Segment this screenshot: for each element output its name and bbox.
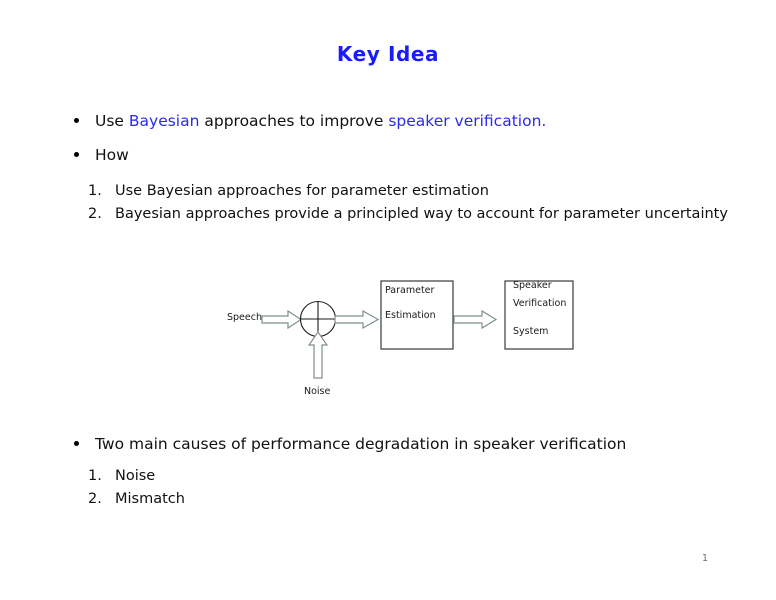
text-use-middle: approaches to improve <box>199 112 388 130</box>
causes-numbered-list: 1. Noise 2. Mismatch <box>88 465 488 511</box>
list-item: 1. Use Bayesian approaches for parameter… <box>88 180 728 203</box>
speaker-verification-box <box>505 281 573 349</box>
text-bayesian: Bayesian <box>129 112 200 130</box>
list-item-label: Use Bayesian approaches for parameter es… <box>115 180 728 203</box>
bullet-dot-icon <box>74 441 79 446</box>
list-item-label: Noise <box>115 465 488 488</box>
list-item: 2. Bayesian approaches provide a princip… <box>88 203 728 226</box>
text-speaker-verification: speaker verification. <box>388 112 546 130</box>
junction-to-estimation-arrow-icon <box>335 311 378 328</box>
list-item-number: 1. <box>88 465 110 488</box>
diagram-label-speech: Speech <box>227 312 262 323</box>
diagram-box-verification-line3: System <box>513 326 548 337</box>
list-item: 2. Mismatch <box>88 488 488 511</box>
text-use-prefix: Use <box>95 112 129 130</box>
block-diagram: Speech Noise Parameter Estimation Speake… <box>215 268 615 413</box>
how-numbered-list: 1. Use Bayesian approaches for parameter… <box>88 180 728 225</box>
noise-arrow-icon <box>309 332 327 378</box>
diagram-box-verification-line1: Speaker <box>513 280 552 291</box>
page-number: 1 <box>702 553 708 564</box>
diagram-box-parameter-line2: Estimation <box>385 310 436 321</box>
speech-arrow-icon <box>262 311 301 328</box>
list-item-number: 2. <box>88 203 110 226</box>
list-item-label: Mismatch <box>115 488 488 511</box>
diagram-box-verification-line2: Verification <box>513 298 566 309</box>
bullet-dot-icon <box>74 118 79 123</box>
page-title: Key Idea <box>0 42 776 66</box>
bullet-how-text: How <box>95 145 129 165</box>
slide-canvas: Key Idea Use Bayesian approaches to impr… <box>0 0 776 600</box>
estimation-to-verification-arrow-icon <box>454 311 496 328</box>
diagram-label-noise: Noise <box>304 386 330 397</box>
list-item-label: Bayesian approaches provide a principled… <box>115 203 728 226</box>
bullet-dot-icon <box>74 152 79 157</box>
list-item-number: 2. <box>88 488 110 511</box>
list-item-number: 1. <box>88 180 110 203</box>
bullet-use-bayesian-text: Use Bayesian approaches to improve speak… <box>95 111 546 131</box>
bullet-two-main-causes-text: Two main causes of performance degradati… <box>95 434 626 454</box>
list-item: 1. Noise <box>88 465 488 488</box>
diagram-box-parameter-line1: Parameter <box>385 285 434 296</box>
